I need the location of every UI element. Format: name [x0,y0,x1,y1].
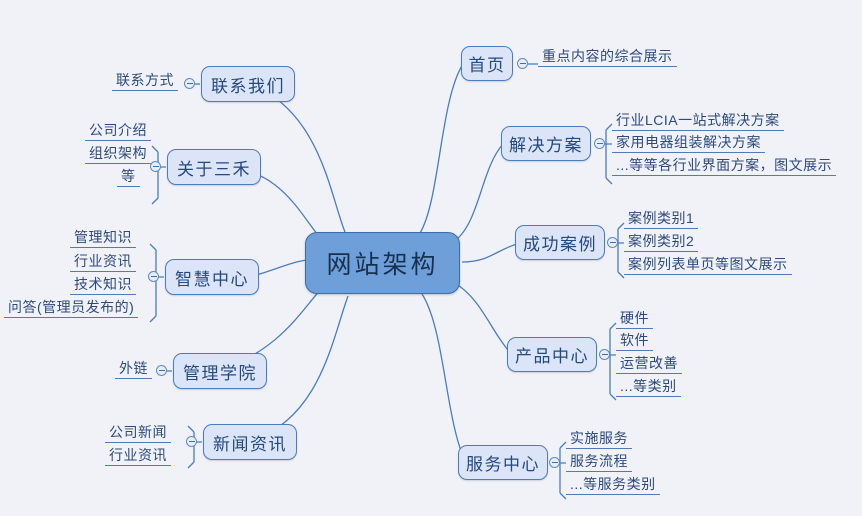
leaf-wisdom-2: 技术知识 [70,276,136,295]
leaf-about-2: 等 [117,168,140,187]
leaf-cases-1: 案例类别2 [624,233,698,252]
collapse-toggle-college[interactable] [156,365,167,376]
leaf-products-2: 运营改善 [616,355,682,374]
branch-node-cases[interactable]: 成功案例 [515,225,605,260]
collapse-toggle-wisdom[interactable] [148,271,159,282]
branch-label-service: 服务中心 [466,450,540,475]
leaf-solutions-0: 行业LCIA一站式解决方案 [612,112,784,131]
branch-label-wisdom: 智慧中心 [175,265,249,290]
branch-label-college: 管理学院 [183,359,257,384]
branch-node-products[interactable]: 产品中心 [507,337,597,372]
collapse-toggle-home[interactable] [517,58,528,69]
root-node[interactable]: 网站架构 [305,232,460,294]
branch-node-news[interactable]: 新闻资讯 [203,424,297,460]
branch-node-solutions[interactable]: 解决方案 [501,126,591,161]
branch-label-about: 关于三禾 [177,155,251,180]
leaf-wisdom-1: 行业资讯 [70,253,136,272]
leaf-wisdom-3: 问答(管理员发布的) [4,299,138,318]
collapse-toggle-about[interactable] [150,161,161,172]
leaf-service-0: 实施服务 [566,430,632,449]
leaf-cases-0: 案例类别1 [624,210,698,229]
mindmap-canvas: 网站架构 首页 重点内容的综合展示 解决方案 行业LCIA一站式解决方案 家用电… [0,0,862,516]
branch-label-news: 新闻资讯 [213,430,287,455]
branch-node-contact[interactable]: 联系我们 [201,66,295,102]
leaf-college-0: 外链 [115,360,152,379]
collapse-toggle-products[interactable] [599,349,610,360]
branch-node-service[interactable]: 服务中心 [458,445,548,480]
branch-node-home[interactable]: 首页 [461,46,513,81]
leaf-about-0: 公司介绍 [85,122,151,141]
branch-node-about[interactable]: 关于三禾 [167,149,261,185]
collapse-toggle-contact[interactable] [184,78,195,89]
branch-label-cases: 成功案例 [523,230,597,255]
collapse-toggle-service[interactable] [549,457,560,468]
leaf-contact-0: 联系方式 [112,72,178,91]
branch-label-solutions: 解决方案 [509,131,583,156]
leaf-solutions-1: 家用电器组装解决方案 [612,134,765,153]
leaf-products-1: 软件 [616,332,653,351]
collapse-toggle-news[interactable] [186,436,197,447]
leaf-wisdom-0: 管理知识 [70,229,136,248]
branch-label-products: 产品中心 [515,342,589,367]
leaf-cases-2: 案例列表单页等图文展示 [624,256,792,275]
leaf-solutions-2: ...等等各行业界面方案，图文展示 [612,157,836,176]
leaf-news-0: 公司新闻 [105,424,171,443]
leaf-service-1: 服务流程 [566,453,632,472]
leaf-news-1: 行业资讯 [105,447,171,466]
branch-label-contact: 联系我们 [211,72,285,97]
leaf-about-1: 组织架构 [85,145,151,164]
collapse-toggle-solutions[interactable] [594,138,605,149]
branch-node-college[interactable]: 管理学院 [173,353,267,389]
leaf-home-0: 重点内容的综合展示 [538,48,677,67]
leaf-products-0: 硬件 [616,310,653,329]
leaf-products-3: ...等类别 [616,378,681,397]
branch-node-wisdom[interactable]: 智慧中心 [165,259,259,295]
root-label: 网站架构 [326,245,438,281]
branch-label-home: 首页 [469,51,506,76]
leaf-service-2: ...等服务类别 [566,476,660,495]
collapse-toggle-cases[interactable] [607,237,618,248]
